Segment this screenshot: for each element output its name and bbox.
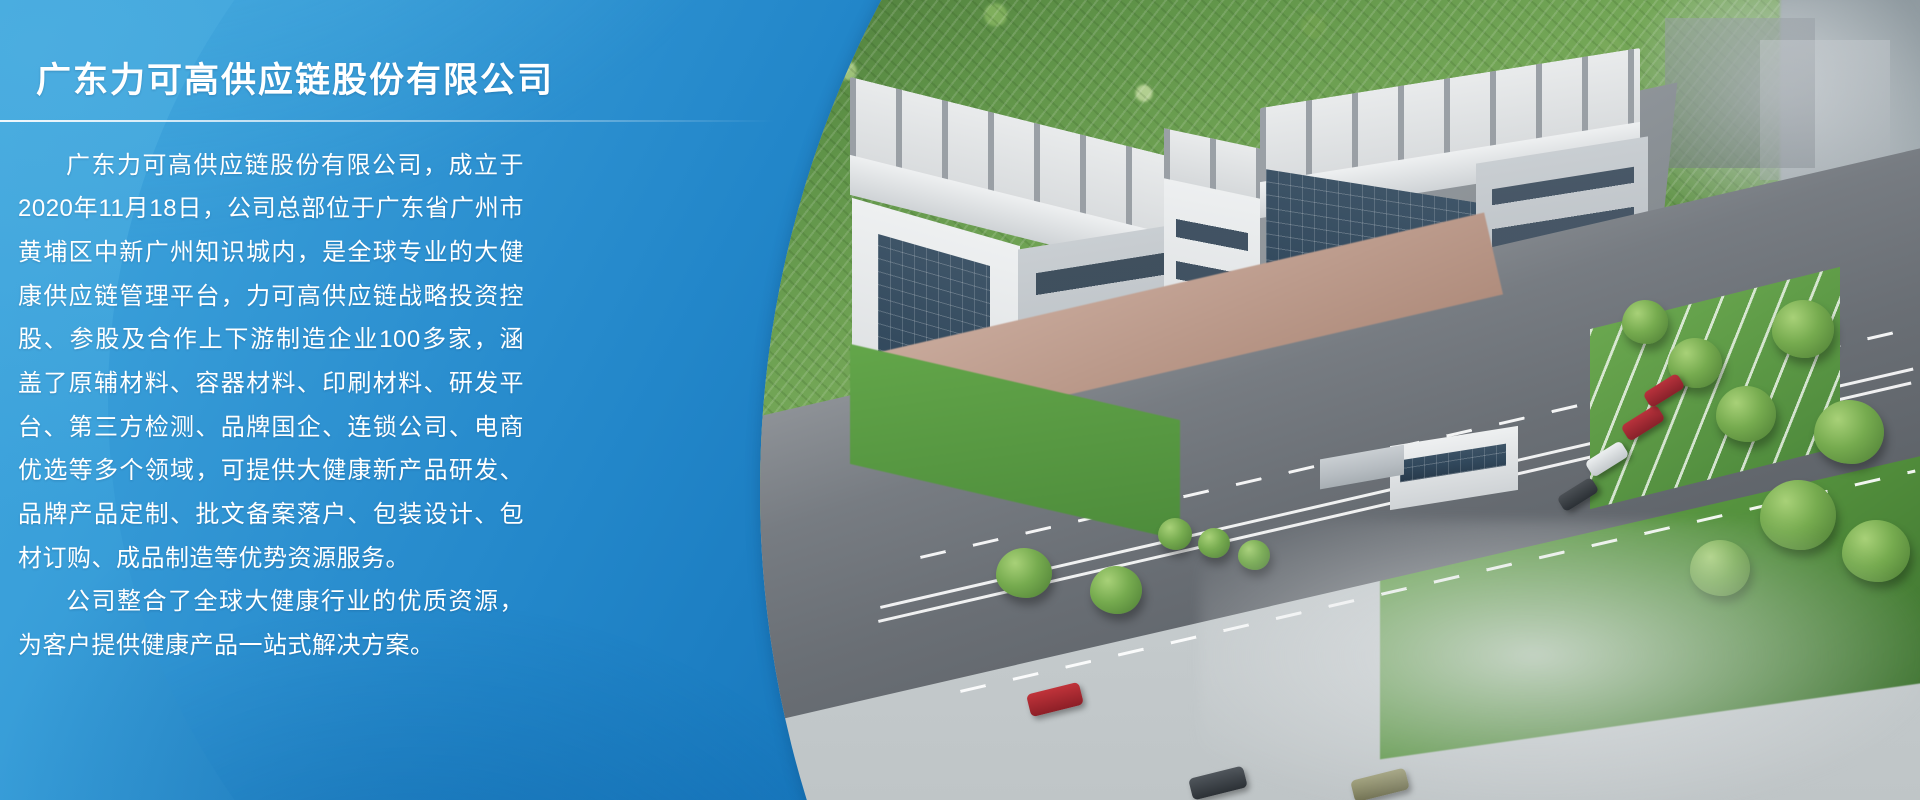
tree <box>996 548 1052 598</box>
tree <box>1090 566 1142 614</box>
tree <box>1622 300 1668 344</box>
facility-photo <box>760 0 1920 800</box>
facility-photo-disc <box>760 0 1920 800</box>
tree <box>1716 386 1776 442</box>
text-panel: 广东力可高供应链股份有限公司 广东力可高供应链股份有限公司，成立于2020年11… <box>0 0 560 668</box>
tree <box>1814 400 1884 464</box>
foreground-haze <box>1200 520 1920 800</box>
tree <box>1158 518 1192 550</box>
description-paragraph-2: 公司整合了全球大健康行业的优质资源，为客户提供健康产品一站式解决方案。 <box>18 580 524 667</box>
tree <box>1772 300 1834 358</box>
description-paragraph-1: 广东力可高供应链股份有限公司，成立于2020年11月18日，公司总部位于广东省广… <box>18 144 524 581</box>
company-description: 广东力可高供应链股份有限公司，成立于2020年11月18日，公司总部位于广东省广… <box>0 122 524 668</box>
page-title: 广东力可高供应链股份有限公司 <box>0 0 560 104</box>
company-profile-banner: 广东力可高供应链股份有限公司 广东力可高供应链股份有限公司，成立于2020年11… <box>0 0 1920 800</box>
